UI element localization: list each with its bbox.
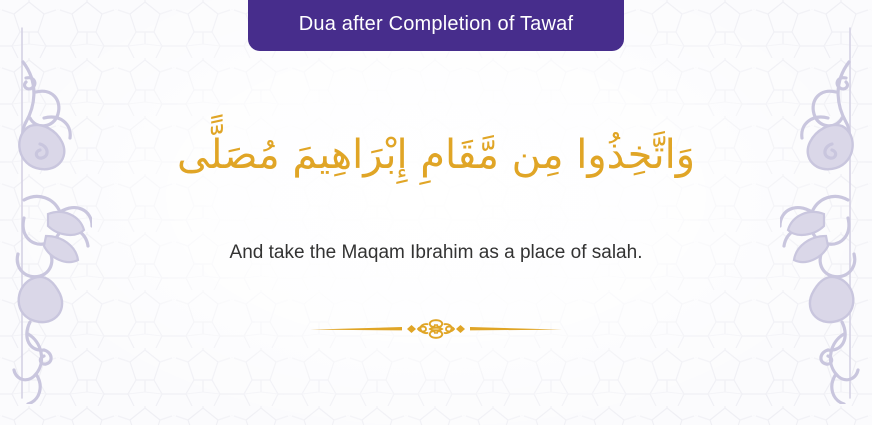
header-banner: Dua after Completion of Tawaf [248,0,624,51]
dua-card: Dua after Completion of Tawaf وَاتَّخِذُ… [0,0,872,425]
page-title: Dua after Completion of Tawaf [299,14,573,34]
dua-content: وَاتَّخِذُوا مِن مَّقَامِ إِبْرَاهِيمَ م… [0,0,872,425]
arabic-verse: وَاتَّخِذُوا مِن مَّقَامِ إِبْرَاهِيمَ م… [0,126,872,184]
translation-text: And take the Maqam Ibrahim as a place of… [0,241,872,266]
ornamental-divider-icon [308,316,564,342]
